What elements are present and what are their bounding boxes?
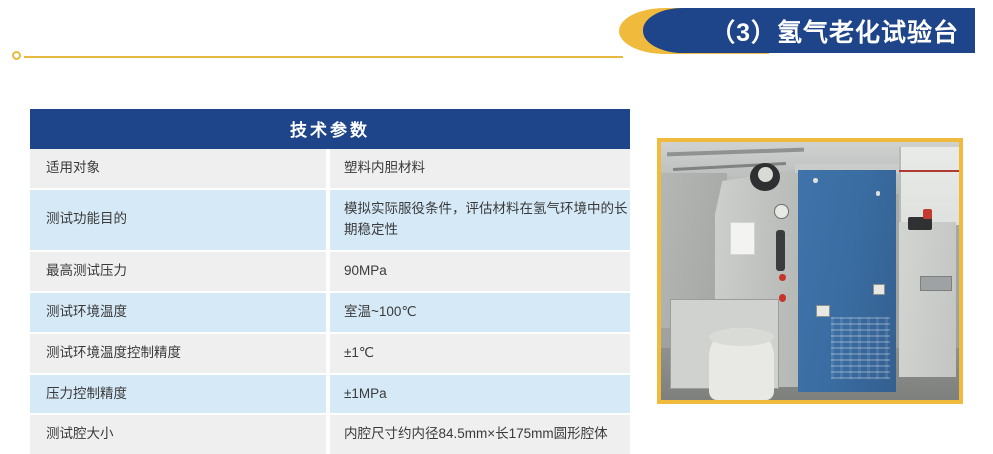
table-row: 测试环境温度 室温~100℃ xyxy=(30,291,630,332)
photo-cabinet-handle xyxy=(920,276,952,291)
photo-door-latch xyxy=(816,305,830,317)
photo-vessel-lid xyxy=(709,328,775,346)
photo-right-cabinet xyxy=(899,222,956,377)
row-label: 最高测试压力 xyxy=(30,250,330,291)
row-label: 压力控制精度 xyxy=(30,373,330,414)
table-row: 测试腔大小 内腔尺寸约内径84.5mm×长175mm圆形腔体 xyxy=(30,413,630,454)
row-value: 内腔尺寸约内径84.5mm×长175mm圆形腔体 xyxy=(330,413,630,454)
table-header-row: 技术参数 xyxy=(30,109,630,149)
photo-posted-note xyxy=(730,222,756,255)
row-value: ±1℃ xyxy=(330,332,630,373)
photo-window-trim xyxy=(899,170,959,172)
row-value: 塑料内胆材料 xyxy=(330,149,630,188)
circle-marker-icon xyxy=(12,51,21,60)
photo-regulator-knob xyxy=(758,167,773,182)
row-value: 室温~100℃ xyxy=(330,291,630,332)
row-value: 90MPa xyxy=(330,250,630,291)
technical-parameters-table: 技术参数 适用对象 塑料内胆材料 测试功能目的 模拟实际服役条件，评估材料在氢气… xyxy=(30,109,630,454)
table-row: 最高测试压力 90MPa xyxy=(30,250,630,291)
horizontal-divider xyxy=(24,56,623,58)
row-label: 适用对象 xyxy=(30,149,330,188)
header-blue-banner: （3）氢气老化试验台 xyxy=(643,8,975,53)
photo-door-latch xyxy=(873,284,885,295)
photo-door-bolt xyxy=(813,178,818,183)
row-label: 测试环境温度控制精度 xyxy=(30,332,330,373)
equipment-photo xyxy=(657,138,963,404)
table-title: 技术参数 xyxy=(30,109,630,149)
row-value: 模拟实际服役条件，评估材料在氢气环境中的长期稳定性 xyxy=(330,188,630,250)
photo-pressure-gauge xyxy=(774,204,789,219)
photo-emergency-stop-button xyxy=(779,294,786,302)
row-value: ±1MPa xyxy=(330,373,630,414)
page-header: （3）氢气老化试验台 xyxy=(0,0,993,70)
page-title: （3）氢气老化试验台 xyxy=(710,13,959,49)
photo-door-bolt xyxy=(876,191,881,196)
table-row: 压力控制精度 ±1MPa xyxy=(30,373,630,414)
table-row: 测试功能目的 模拟实际服役条件，评估材料在氢气环境中的长期稳定性 xyxy=(30,188,630,250)
photo-vent-grille xyxy=(831,317,891,379)
photo-hose xyxy=(776,230,785,271)
row-label: 测试环境温度 xyxy=(30,291,330,332)
photo-emergency-stop-button xyxy=(779,274,786,282)
table-row: 测试环境温度控制精度 ±1℃ xyxy=(30,332,630,373)
row-label: 测试功能目的 xyxy=(30,188,330,250)
row-label: 测试腔大小 xyxy=(30,413,330,454)
equipment-photo-content xyxy=(661,142,959,400)
photo-red-valve xyxy=(923,209,932,219)
table-row: 适用对象 塑料内胆材料 xyxy=(30,149,630,188)
